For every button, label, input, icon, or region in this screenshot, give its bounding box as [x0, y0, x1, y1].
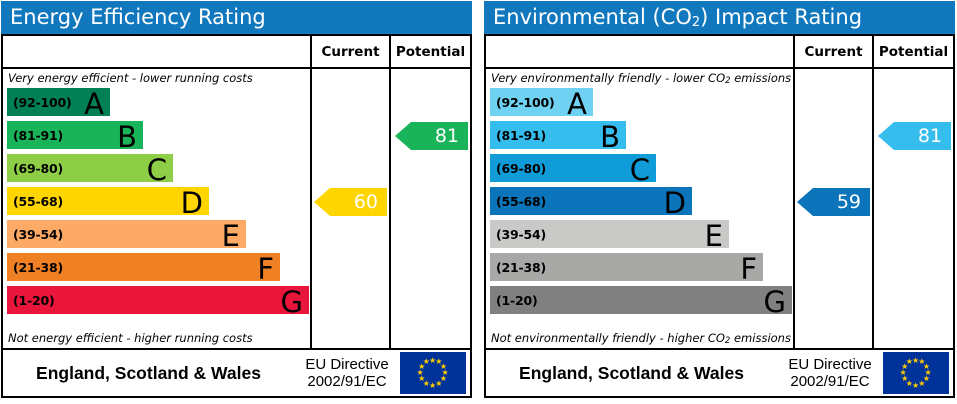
chart-title-subscript: 2: [692, 15, 700, 30]
column-header-row: Current Potential: [3, 36, 470, 69]
band-d: (55-68) D: [7, 187, 209, 215]
header-blank-cell: [3, 36, 312, 67]
band-range: (92-100): [490, 95, 555, 110]
band-range: (69-80): [7, 161, 63, 176]
band-range: (1-20): [490, 293, 538, 308]
current-rating-arrow: 60: [314, 188, 387, 216]
band-letter: E: [705, 222, 723, 251]
band-range: (81-91): [7, 128, 63, 143]
current-rating-column: 59: [795, 69, 874, 348]
band-letter: D: [181, 189, 203, 218]
caption-top: Very environmentally friendly - lower CO…: [486, 69, 793, 88]
caption-bottom-suffix: emissions: [730, 331, 791, 345]
epc-charts-container: Energy Efficiency Rating Current Potenti…: [0, 0, 957, 404]
environmental-impact-chart: Environmental (CO2) Impact Rating Curren…: [484, 1, 955, 401]
footer-region: England, Scotland & Wales: [486, 363, 777, 384]
band-range: (55-68): [490, 194, 546, 209]
band-range: (21-38): [490, 260, 546, 275]
chart-footer: England, Scotland & Wales EU Directive 2…: [486, 350, 953, 396]
caption-top-prefix: Very environmentally friendly - lower CO: [491, 71, 725, 85]
footer-directive-line2: 2002/91/EC: [777, 373, 883, 390]
header-potential: Potential: [874, 36, 953, 67]
band-letter: F: [740, 255, 757, 284]
band-a: (92-100) A: [7, 88, 110, 116]
chart-title-suffix: ) Impact Rating: [700, 5, 862, 29]
band-e: (39-54) E: [7, 220, 246, 248]
band-letter: G: [281, 288, 303, 317]
band-range: (81-91): [490, 128, 546, 143]
band-range: (1-20): [7, 293, 55, 308]
eu-flag-icon: ★★★★★★★★★★★★: [400, 352, 466, 394]
band-list: (92-100) A (81-91) B (69-80) C (55-68): [3, 88, 310, 348]
caption-bottom: Not energy efficient - higher running co…: [3, 329, 310, 348]
potential-rating-column: 81: [874, 69, 953, 348]
band-range: (39-54): [490, 227, 546, 242]
caption-bottom: Not environmentally friendly - higher CO…: [486, 329, 793, 348]
band-f: (21-38) F: [490, 253, 763, 281]
band-letter: A: [84, 90, 104, 119]
chart-title: Environmental (CO2) Impact Rating: [484, 1, 955, 34]
band-letter: F: [257, 255, 274, 284]
eu-star-icon: ★: [918, 380, 925, 388]
footer-directive-line1: EU Directive: [777, 356, 883, 373]
chart-grid: Current Potential Very energy efficient …: [1, 34, 472, 398]
band-letter: C: [147, 156, 167, 185]
caption-bottom-prefix: Not environmentally friendly - higher CO: [491, 331, 725, 345]
caption-top-subscript: 2: [725, 76, 730, 86]
band-letter: A: [567, 90, 587, 119]
band-range: (69-80): [490, 161, 546, 176]
potential-rating-arrow: 81: [878, 122, 951, 150]
band-f: (21-38) F: [7, 253, 280, 281]
current-rating-column: 60: [312, 69, 391, 348]
eu-star-icon: ★: [906, 358, 913, 366]
caption-bottom-subscript: 2: [725, 336, 730, 346]
footer-region: England, Scotland & Wales: [3, 363, 294, 384]
band-range: (55-68): [7, 194, 63, 209]
caption-top: Very energy efficient - lower running co…: [3, 69, 310, 88]
potential-rating-arrow: 81: [395, 122, 468, 150]
chart-body-row: Very energy efficient - lower running co…: [3, 69, 470, 350]
eu-flag-icon: ★★★★★★★★★★★★: [883, 352, 949, 394]
footer-directive-line2: 2002/91/EC: [294, 373, 400, 390]
band-list: (92-100) A (81-91) B (69-80) C (55-68): [486, 88, 793, 348]
band-range: (39-54): [7, 227, 63, 242]
band-letter: C: [630, 156, 650, 185]
band-letter: G: [764, 288, 786, 317]
header-current: Current: [312, 36, 391, 67]
band-a: (92-100) A: [490, 88, 593, 116]
band-letter: D: [664, 189, 686, 218]
band-letter: B: [600, 123, 620, 152]
chart-grid: Current Potential Very environmentally f…: [484, 34, 955, 398]
header-current: Current: [795, 36, 874, 67]
header-blank-cell: [486, 36, 795, 67]
chart-title: Energy Efficiency Rating: [1, 1, 472, 34]
band-c: (69-80) C: [490, 154, 656, 182]
band-c: (69-80) C: [7, 154, 173, 182]
current-rating-arrow: 59: [797, 188, 870, 216]
chart-footer: England, Scotland & Wales EU Directive 2…: [3, 350, 470, 396]
eu-star-icon: ★: [423, 358, 430, 366]
eu-star-icon: ★: [429, 382, 436, 390]
potential-rating-column: 81: [391, 69, 470, 348]
chart-body-row: Very environmentally friendly - lower CO…: [486, 69, 953, 350]
band-g: (1-20) G: [7, 286, 309, 314]
band-range: (21-38): [7, 260, 63, 275]
footer-directive: EU Directive 2002/91/EC: [777, 356, 883, 390]
chart-title-prefix: Environmental (CO: [493, 5, 692, 29]
eu-star-icon: ★: [912, 382, 919, 390]
energy-efficiency-chart: Energy Efficiency Rating Current Potenti…: [1, 1, 472, 401]
header-potential: Potential: [391, 36, 470, 67]
caption-top-suffix: emissions: [731, 71, 792, 85]
band-column: Very environmentally friendly - lower CO…: [486, 69, 795, 348]
column-header-row: Current Potential: [486, 36, 953, 69]
footer-directive: EU Directive 2002/91/EC: [294, 356, 400, 390]
band-range: (92-100): [7, 95, 72, 110]
band-column: Very energy efficient - lower running co…: [3, 69, 312, 348]
footer-directive-line1: EU Directive: [294, 356, 400, 373]
band-d: (55-68) D: [490, 187, 692, 215]
eu-star-icon: ★: [435, 380, 442, 388]
band-g: (1-20) G: [490, 286, 792, 314]
band-letter: B: [117, 123, 137, 152]
band-e: (39-54) E: [490, 220, 729, 248]
band-b: (81-91) B: [7, 121, 143, 149]
band-letter: E: [222, 222, 240, 251]
band-b: (81-91) B: [490, 121, 626, 149]
